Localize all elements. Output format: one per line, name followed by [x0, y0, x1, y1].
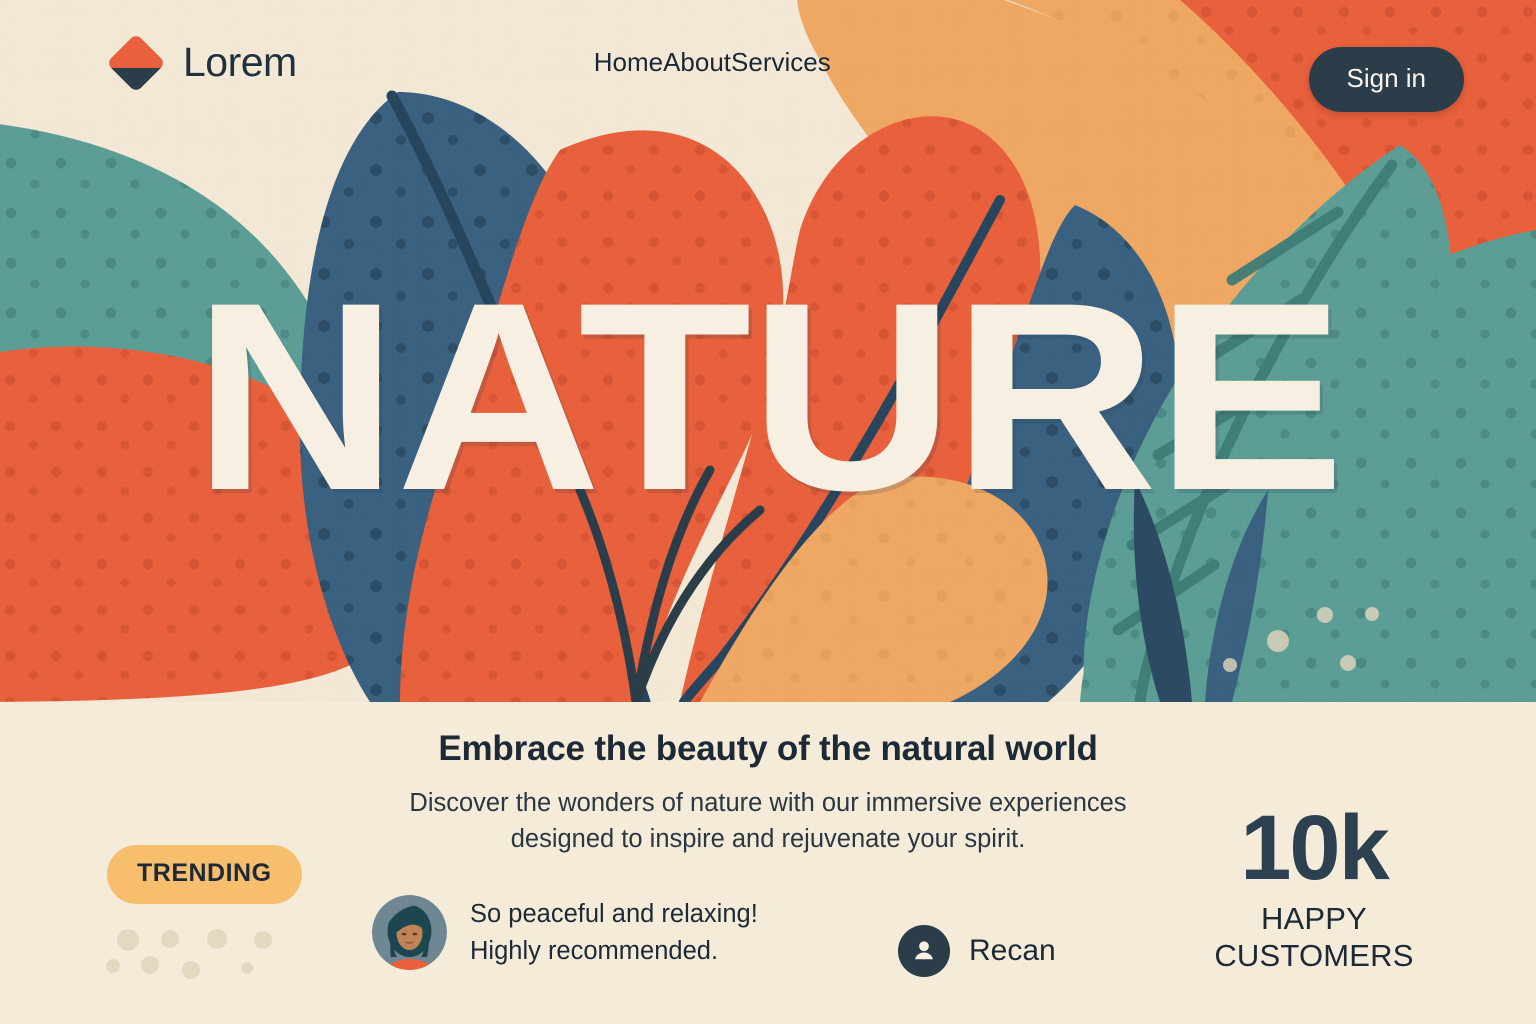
top-navigation-bar: Lorem Home About Services Sign in: [0, 0, 1536, 125]
reviewer-name: Recan: [969, 934, 1056, 968]
testimonial-block: So peaceful and relaxing! Highly recomme…: [372, 895, 758, 970]
brand-name: Lorem: [183, 39, 297, 86]
hero-title: NATURE: [0, 287, 1536, 507]
nav-links: Home About Services: [594, 47, 831, 78]
sign-in-button[interactable]: Sign in: [1309, 47, 1465, 112]
testimonial-line-2: Highly recommended.: [470, 933, 758, 969]
reviewer-block: Recan: [898, 925, 1056, 977]
nav-item-home[interactable]: Home: [594, 47, 663, 78]
page-headline: Embrace the beauty of the natural world: [0, 729, 1536, 769]
nav-item-services[interactable]: Services: [731, 47, 831, 78]
woman-avatar: [372, 895, 447, 970]
stat-label-line-2: CUSTOMERS: [1164, 938, 1464, 975]
stats-block: 10k HAPPY CUSTOMERS: [1164, 805, 1464, 975]
brand-logo[interactable]: Lorem: [107, 34, 297, 92]
user-person-icon: [898, 925, 950, 977]
stat-label-line-1: HAPPY: [1164, 901, 1464, 938]
diamond-logo-icon: [107, 34, 165, 92]
stat-label: HAPPY CUSTOMERS: [1164, 901, 1464, 974]
testimonial-quote: So peaceful and relaxing! Highly recomme…: [470, 896, 758, 968]
nav-item-about[interactable]: About: [663, 47, 731, 78]
stat-value: 10k: [1164, 805, 1464, 892]
trending-badge[interactable]: TRENDING: [107, 845, 302, 904]
decorative-dots-left: [95, 917, 345, 987]
testimonial-line-1: So peaceful and relaxing!: [470, 896, 758, 932]
